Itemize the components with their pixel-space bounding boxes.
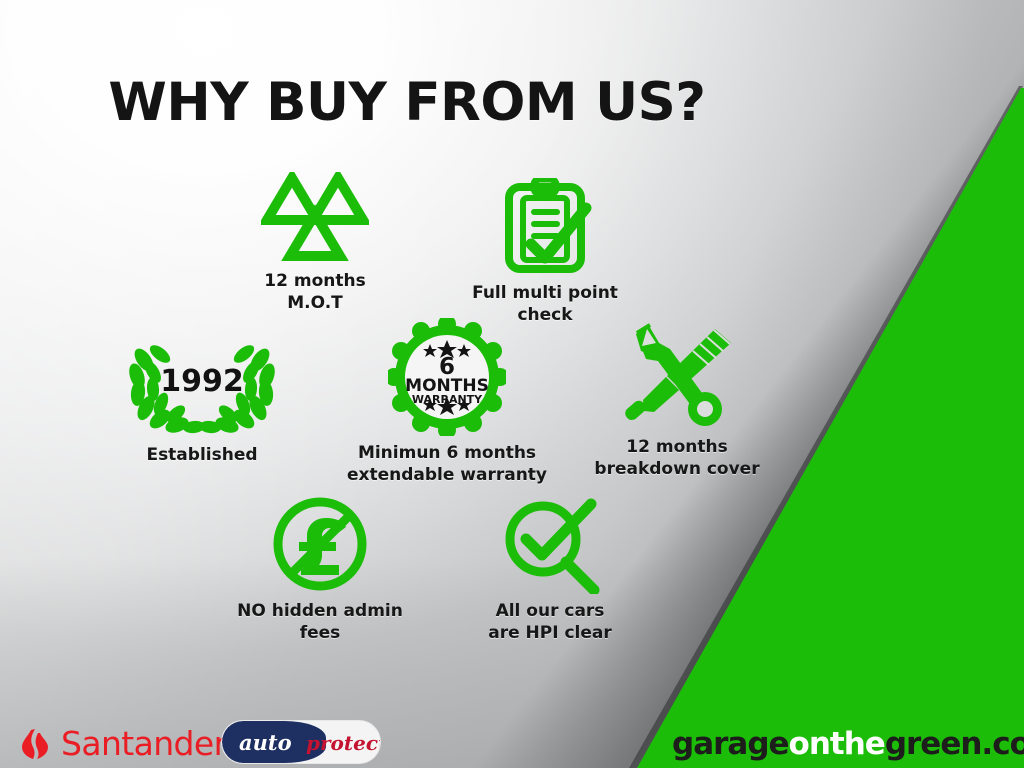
poster-canvas: WHY BUY FROM US? 12 months M.O.T Full mu… [0, 0, 1024, 768]
brand-part-onthe: onthe [789, 726, 885, 762]
laurel-wreath-icon: 1992 [122, 330, 282, 438]
wrench-screwdriver-icon [614, 318, 740, 426]
autoprotect-logo: auto protect [222, 721, 380, 763]
feature-warranty-caption: Minimun 6 months extendable warranty [322, 442, 572, 487]
magnifier-check-icon [498, 494, 602, 594]
feature-breakdown-caption: 12 months breakdown cover [562, 436, 792, 481]
santander-flame-icon [18, 727, 52, 761]
feature-no-fees-caption: NO hidden admin fees [205, 600, 435, 645]
brand-part-garage: garage [672, 726, 789, 762]
feature-established-caption: Established [92, 444, 312, 466]
warranty-badge-icon: 6 MONTHS WARRANTY [388, 318, 506, 436]
brand-part-greencom: green.com [885, 726, 1024, 762]
warranty-word: WARRANTY [412, 393, 483, 406]
feature-mot-caption: 12 months M.O.T [205, 270, 425, 315]
feature-hpi-clear: All our cars are HPI clear [435, 494, 665, 645]
santander-logo: Santander [18, 724, 227, 763]
clipboard-check-icon [498, 178, 592, 276]
brand-wordmark: garageonthegreen.com [672, 726, 1024, 762]
feature-established: 1992 Established [92, 330, 312, 466]
feature-hpi-clear-caption: All our cars are HPI clear [435, 600, 665, 645]
established-year: 1992 [122, 364, 282, 399]
feature-breakdown: 12 months breakdown cover [562, 318, 792, 481]
page-title: WHY BUY FROM US? [0, 72, 1024, 133]
santander-wordmark: Santander [61, 724, 227, 763]
feature-no-fees: NO hidden admin fees [205, 494, 435, 645]
feature-warranty: 6 MONTHS WARRANTY Minimun 6 months exten… [322, 318, 572, 487]
feature-multipoint-check: Full multi point check [430, 178, 660, 327]
no-pound-fees-icon [270, 494, 370, 594]
autoprotect-auto-text: auto [239, 730, 292, 755]
feature-mot: 12 months M.O.T [205, 172, 425, 315]
autoprotect-protect-text: protect [306, 731, 380, 755]
mot-triangles-icon [261, 172, 369, 264]
